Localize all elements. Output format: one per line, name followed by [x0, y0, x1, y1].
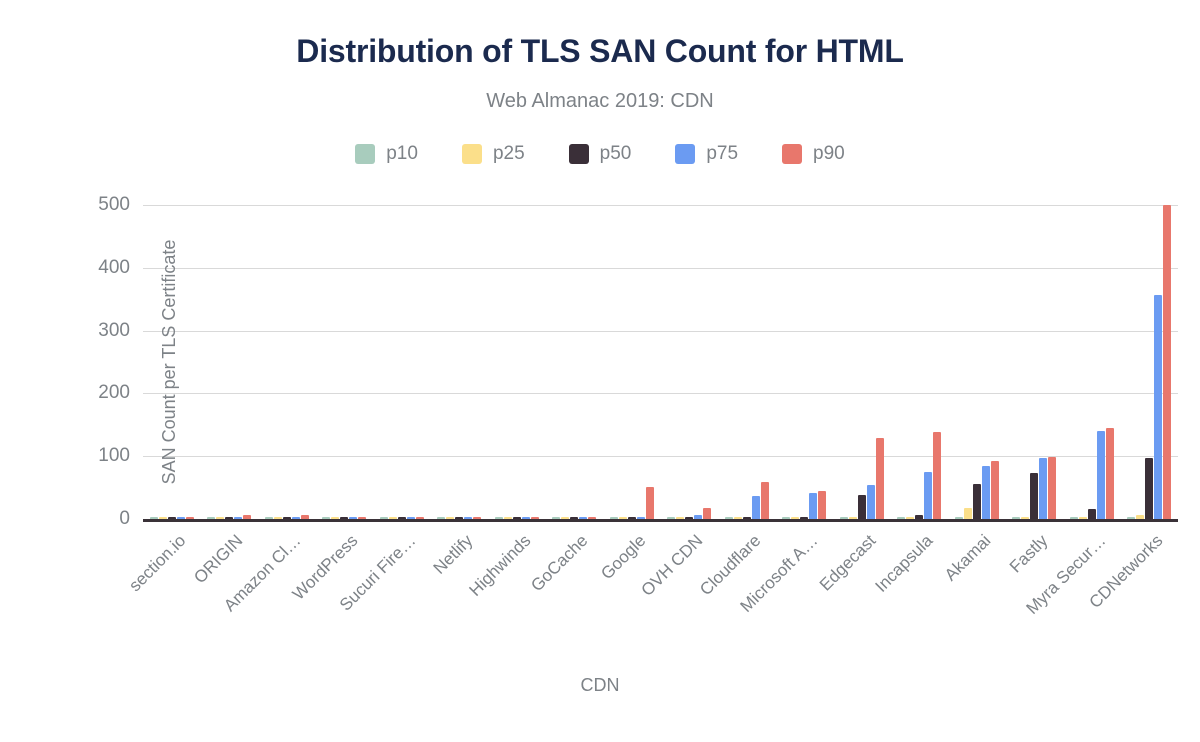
bar-p50[interactable] — [858, 495, 866, 519]
bar-p90[interactable] — [1106, 428, 1114, 519]
bar-group[interactable] — [1063, 205, 1121, 519]
chart-container: Distribution of TLS SAN Count for HTML W… — [0, 0, 1200, 742]
bar-p75[interactable] — [1097, 431, 1105, 519]
legend-label: p50 — [600, 143, 632, 165]
bar-group[interactable] — [1006, 205, 1064, 519]
legend-swatch-icon — [355, 144, 375, 164]
bar-p90[interactable] — [933, 432, 941, 519]
bar-group[interactable] — [258, 205, 316, 519]
bars-layer — [143, 205, 1178, 519]
bar-p75[interactable] — [809, 493, 817, 519]
bar-p75[interactable] — [924, 472, 932, 519]
bar-p75[interactable] — [1039, 458, 1047, 519]
bar-p50[interactable] — [1145, 458, 1153, 519]
bar-p90[interactable] — [1048, 457, 1056, 519]
x-tick-label: Highwinds — [465, 531, 535, 601]
y-tick-label: 300 — [60, 320, 130, 342]
bar-p90[interactable] — [703, 508, 711, 519]
legend-entry-p75[interactable]: p75 — [675, 143, 738, 165]
legend-swatch-icon — [675, 144, 695, 164]
bar-group[interactable] — [603, 205, 661, 519]
x-tick-label: OVH CDN — [638, 531, 708, 601]
y-axis-title: SAN Count per TLS Certificate — [159, 240, 180, 485]
bar-group[interactable] — [776, 205, 834, 519]
bar-p50[interactable] — [1030, 473, 1038, 519]
legend-swatch-icon — [569, 144, 589, 164]
y-tick-label: 100 — [60, 445, 130, 467]
bar-p75[interactable] — [867, 485, 875, 519]
x-tick-label: Incapsula — [872, 531, 938, 597]
legend-swatch-icon — [782, 144, 802, 164]
bar-p90[interactable] — [646, 487, 654, 519]
y-tick-label: 0 — [60, 508, 130, 530]
x-tick-label: GoCache — [527, 531, 592, 596]
bar-group[interactable] — [488, 205, 546, 519]
legend-label: p75 — [706, 143, 738, 165]
bar-p75[interactable] — [752, 496, 760, 519]
x-tick-label: Akamai — [941, 531, 995, 585]
bar-p90[interactable] — [991, 461, 999, 519]
y-tick-label: 400 — [60, 257, 130, 279]
x-tick-label: section.io — [125, 531, 190, 596]
bar-group[interactable] — [661, 205, 719, 519]
legend-entry-p50[interactable]: p50 — [569, 143, 632, 165]
legend-label: p90 — [813, 143, 845, 165]
legend-label: p10 — [386, 143, 418, 165]
bar-p75[interactable] — [982, 466, 990, 519]
x-tick-label: Google — [597, 531, 650, 584]
x-axis-tick-labels: section.ioORIGINAmazon Cl…WordPressSucur… — [143, 519, 1178, 669]
bar-group[interactable] — [833, 205, 891, 519]
chart-subtitle: Web Almanac 2019: CDN — [0, 90, 1200, 113]
legend-swatch-icon — [462, 144, 482, 164]
y-tick-label: 500 — [60, 194, 130, 216]
bar-group[interactable] — [948, 205, 1006, 519]
x-axis-title: CDN — [0, 675, 1200, 696]
bar-group[interactable] — [1121, 205, 1179, 519]
x-tick-label: ORIGIN — [191, 531, 248, 588]
bar-group[interactable] — [373, 205, 431, 519]
bar-p50[interactable] — [973, 484, 981, 519]
bar-p25[interactable] — [964, 508, 972, 519]
bar-p90[interactable] — [761, 482, 769, 519]
legend-entry-p25[interactable]: p25 — [462, 143, 525, 165]
bar-p90[interactable] — [876, 438, 884, 519]
bar-p75[interactable] — [1154, 295, 1162, 519]
legend-entry-p10[interactable]: p10 — [355, 143, 418, 165]
x-tick-label: Netlify — [430, 531, 478, 579]
bar-p90[interactable] — [1163, 205, 1171, 519]
bar-group[interactable] — [718, 205, 776, 519]
bar-p50[interactable] — [1088, 509, 1096, 519]
x-tick-label: Fastly — [1006, 531, 1052, 577]
bar-p90[interactable] — [818, 491, 826, 519]
plot-area: 0100200300400500 SAN Count per TLS Certi… — [143, 205, 1178, 519]
legend-entry-p90[interactable]: p90 — [782, 143, 845, 165]
bar-group[interactable] — [431, 205, 489, 519]
bar-group[interactable] — [201, 205, 259, 519]
x-tick-label: Edgecast — [816, 531, 880, 595]
bar-group[interactable] — [891, 205, 949, 519]
chart-legend: p10p25p50p75p90 — [0, 143, 1200, 165]
legend-label: p25 — [493, 143, 525, 165]
chart-title: Distribution of TLS SAN Count for HTML — [0, 33, 1200, 70]
bar-group[interactable] — [316, 205, 374, 519]
y-tick-label: 200 — [60, 382, 130, 404]
bar-group[interactable] — [546, 205, 604, 519]
